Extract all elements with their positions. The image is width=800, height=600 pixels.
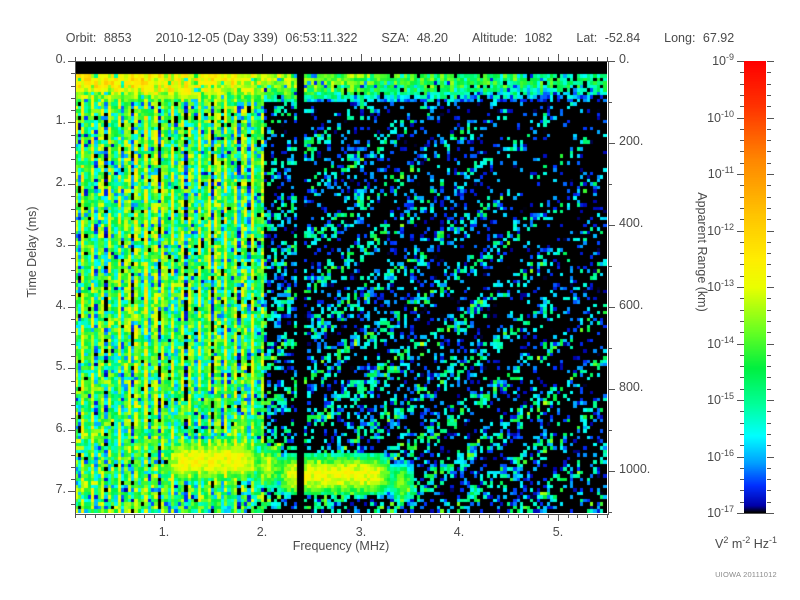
axis-tick <box>538 57 539 61</box>
colorbar-tick-label: 10-10 <box>682 109 734 125</box>
axis-tick <box>68 184 75 185</box>
axis-tick <box>767 332 771 333</box>
axis-tick <box>193 514 194 518</box>
x-axis-title: Frequency (MHz) <box>241 539 441 553</box>
axis-tick <box>459 514 460 521</box>
axis-tick <box>608 266 612 267</box>
x-tick-label: 1. <box>144 525 184 539</box>
axis-tick <box>469 514 470 518</box>
axis-tick <box>767 84 771 85</box>
axis-tick <box>737 174 744 175</box>
axis-tick <box>508 514 509 518</box>
axis-tick <box>203 514 204 518</box>
axis-tick <box>767 411 771 412</box>
y-tick-label-left: 7. <box>30 482 66 496</box>
axis-tick <box>767 253 771 254</box>
axis-tick <box>390 57 391 61</box>
colorbar-gradient <box>744 61 766 513</box>
axis-tick <box>410 57 411 61</box>
sza-label: SZA: <box>381 31 409 45</box>
axis-tick <box>71 381 75 382</box>
axis-tick <box>430 57 431 61</box>
axis-tick <box>95 57 96 61</box>
axis-tick <box>154 514 155 518</box>
axis-tick <box>183 57 184 61</box>
header-info-bar: Orbit: 8853 2010-12-05 (Day 339) 06:53:1… <box>0 31 800 45</box>
axis-tick <box>183 514 184 518</box>
axis-tick <box>577 57 578 61</box>
observation-time: 06:53:11.322 <box>285 31 357 45</box>
axis-tick <box>767 264 771 265</box>
sza-value: 48.20 <box>417 31 448 45</box>
axis-tick <box>144 57 145 61</box>
axis-tick <box>548 57 549 61</box>
axis-tick <box>390 514 391 518</box>
y-tick-label-right: 800. <box>619 380 669 394</box>
axis-tick <box>361 514 362 521</box>
axis-tick <box>380 57 381 61</box>
axis-tick <box>737 231 744 232</box>
axis-tick <box>174 57 175 61</box>
axis-tick <box>767 140 771 141</box>
axis-tick <box>767 434 771 435</box>
axis-tick <box>282 514 283 518</box>
axis-tick <box>341 514 342 518</box>
y-tick-label-left: 5. <box>30 359 66 373</box>
y-tick-label-right: 0. <box>619 52 669 66</box>
axis-tick <box>71 135 75 136</box>
axis-tick <box>71 258 75 259</box>
axis-tick <box>737 287 744 288</box>
axis-tick <box>767 321 771 322</box>
y-tick-label-left: 6. <box>30 421 66 435</box>
axis-tick <box>767 298 771 299</box>
axis-tick <box>213 514 214 518</box>
axis-tick <box>321 57 322 61</box>
spectrogram-image <box>75 61 607 513</box>
axis-tick <box>114 57 115 61</box>
axis-tick <box>767 118 774 119</box>
axis-tick <box>380 514 381 518</box>
axis-tick <box>400 57 401 61</box>
axis-tick <box>430 514 431 518</box>
longitude-value: 67.92 <box>703 31 734 45</box>
orbit-value: 8853 <box>104 31 132 45</box>
axis-tick <box>538 514 539 518</box>
y-tick-label-left: 0. <box>30 52 66 66</box>
colorbar-tick-label: 10-14 <box>682 335 734 351</box>
axis-tick <box>71 233 75 234</box>
axis-tick <box>528 514 529 518</box>
axis-tick <box>608 225 615 226</box>
axis-tick <box>262 514 263 521</box>
axis-tick <box>597 514 598 518</box>
y-axis-title-right: Apparent Range (km) <box>695 167 709 337</box>
axis-tick <box>587 57 588 61</box>
axis-tick <box>528 57 529 61</box>
axis-tick <box>469 57 470 61</box>
axis-tick <box>71 405 75 406</box>
y-tick-label-right: 600. <box>619 298 669 312</box>
axis-tick <box>341 57 342 61</box>
axis-tick <box>272 57 273 61</box>
altitude-label: Altitude: <box>472 31 517 45</box>
axis-tick <box>252 57 253 61</box>
axis-tick <box>767 219 771 220</box>
axis-tick <box>233 57 234 61</box>
axis-tick <box>767 242 771 243</box>
axis-tick <box>767 185 771 186</box>
axis-tick <box>71 221 75 222</box>
colorbar-unit-label: V2 m-2 Hz-1 <box>692 535 800 551</box>
axis-tick <box>371 57 372 61</box>
axis-tick <box>558 514 559 521</box>
axis-tick <box>154 57 155 61</box>
axis-tick <box>489 57 490 61</box>
axis-tick <box>262 54 263 61</box>
axis-tick <box>68 368 75 369</box>
axis-tick <box>767 457 774 458</box>
axis-tick <box>608 389 615 390</box>
axis-tick <box>95 514 96 518</box>
axis-tick <box>608 430 612 431</box>
axis-tick <box>71 147 75 148</box>
axis-tick <box>71 442 75 443</box>
axis-tick <box>608 348 612 349</box>
axis-tick <box>607 57 608 61</box>
colorbar-baseline <box>737 513 773 514</box>
axis-tick <box>292 57 293 61</box>
axis-tick <box>223 514 224 518</box>
axis-tick <box>71 332 75 333</box>
axis-tick <box>608 512 612 513</box>
axis-tick <box>440 57 441 61</box>
axis-tick <box>331 57 332 61</box>
axis-tick <box>71 282 75 283</box>
axis-tick <box>71 479 75 480</box>
observation-date: 2010-12-05 (Day 339) <box>156 31 278 45</box>
axis-tick <box>85 514 86 518</box>
latitude-value: -52.84 <box>605 31 640 45</box>
axis-tick <box>71 418 75 419</box>
axis-tick <box>134 57 135 61</box>
axis-tick <box>568 57 569 61</box>
axis-tick <box>252 514 253 518</box>
axis-tick <box>144 514 145 518</box>
axis-tick <box>607 514 608 518</box>
axis-tick <box>400 514 401 518</box>
axis-tick <box>71 344 75 345</box>
axis-tick <box>767 344 774 345</box>
axis-tick <box>767 355 771 356</box>
axis-tick <box>105 57 106 61</box>
axis-tick <box>272 514 273 518</box>
axis-tick <box>124 514 125 518</box>
axis-tick <box>499 514 500 518</box>
altitude-value: 1082 <box>525 31 553 45</box>
axis-tick <box>302 514 303 518</box>
axis-tick <box>767 276 771 277</box>
axis-tick <box>331 514 332 518</box>
axis-tick <box>71 270 75 271</box>
axis-tick <box>68 122 75 123</box>
axis-tick <box>71 504 75 505</box>
axis-tick <box>233 514 234 518</box>
axis-tick <box>302 57 303 61</box>
axis-tick <box>420 57 421 61</box>
axis-tick <box>71 73 75 74</box>
axis-tick <box>767 468 771 469</box>
axis-tick <box>71 110 75 111</box>
axis-tick <box>242 57 243 61</box>
axis-tick <box>518 57 519 61</box>
axis-tick <box>737 61 744 62</box>
axis-tick <box>410 514 411 518</box>
axis-tick <box>282 57 283 61</box>
x-tick-label: 3. <box>341 525 381 539</box>
axis-tick <box>361 54 362 61</box>
axis-tick <box>608 143 615 144</box>
orbit-label: Orbit: <box>66 31 97 45</box>
axis-tick <box>71 467 75 468</box>
axis-tick <box>71 172 75 173</box>
axis-tick <box>71 98 75 99</box>
y-tick-label-right: 400. <box>619 216 669 230</box>
axis-tick <box>767 231 774 232</box>
axis-tick <box>489 514 490 518</box>
axis-tick <box>767 163 771 164</box>
axis-tick <box>449 57 450 61</box>
axis-tick <box>193 57 194 61</box>
axis-tick <box>71 209 75 210</box>
axis-tick <box>213 57 214 61</box>
axis-tick <box>85 57 86 61</box>
latitude-label: Lat: <box>576 31 597 45</box>
axis-tick <box>767 389 771 390</box>
axis-tick <box>71 159 75 160</box>
axis-tick <box>68 491 75 492</box>
x-tick-label: 4. <box>439 525 479 539</box>
axis-tick <box>203 57 204 61</box>
axis-tick <box>75 514 76 518</box>
axis-tick <box>737 457 744 458</box>
axis-tick <box>767 490 771 491</box>
axis-tick <box>499 57 500 61</box>
x-tick-label: 5. <box>538 525 578 539</box>
axis-tick <box>105 514 106 518</box>
axis-tick <box>75 57 76 61</box>
axis-tick <box>767 151 771 152</box>
axis-tick <box>134 514 135 518</box>
axis-tick <box>548 514 549 518</box>
credit-label: UIOWA 20111012 <box>692 570 800 579</box>
axis-tick <box>68 430 75 431</box>
axis-tick <box>767 72 771 73</box>
axis-tick <box>479 57 480 61</box>
axis-tick <box>351 57 352 61</box>
axis-tick <box>68 61 75 62</box>
axis-tick <box>371 514 372 518</box>
axis-tick <box>767 366 771 367</box>
axis-tick <box>242 514 243 518</box>
axis-tick <box>767 61 774 62</box>
axis-tick <box>164 514 165 521</box>
axis-tick <box>558 54 559 61</box>
axis-tick <box>767 310 771 311</box>
axis-tick <box>737 344 744 345</box>
ionogram-plot-area <box>75 61 607 513</box>
y-tick-label-right: 1000. <box>619 462 669 476</box>
axis-tick <box>608 307 615 308</box>
axis-tick <box>518 514 519 518</box>
axis-tick <box>114 514 115 518</box>
y-tick-label-left: 1. <box>30 113 66 127</box>
axis-tick <box>459 54 460 61</box>
colorbar-tick-label: 10-15 <box>682 391 734 407</box>
x-tick-label: 2. <box>242 525 282 539</box>
axis-tick <box>71 319 75 320</box>
axis-tick <box>420 514 421 518</box>
axis-tick <box>577 514 578 518</box>
axis-tick <box>223 57 224 61</box>
axis-tick <box>68 307 75 308</box>
axis-tick <box>608 102 612 103</box>
axis-tick <box>71 455 75 456</box>
colorbar-tick-label: 10-9 <box>682 52 734 68</box>
colorbar-tick-label: 10-16 <box>682 448 734 464</box>
axis-tick <box>71 356 75 357</box>
y-tick-label-right: 200. <box>619 134 669 148</box>
axis-tick <box>71 86 75 87</box>
colorbar <box>744 61 766 513</box>
axis-tick <box>71 393 75 394</box>
axis-tick <box>292 514 293 518</box>
axis-tick <box>71 295 75 296</box>
axis-tick <box>174 514 175 518</box>
axis-tick <box>767 502 771 503</box>
axis-tick <box>767 400 774 401</box>
y-axis-title-left: Time Delay (ms) <box>25 182 39 322</box>
colorbar-tick-label: 10-17 <box>682 504 734 520</box>
axis-tick <box>767 423 771 424</box>
longitude-label: Long: <box>664 31 695 45</box>
axis-tick <box>449 514 450 518</box>
axis-tick <box>767 95 771 96</box>
axis-tick <box>311 514 312 518</box>
axis-tick <box>440 514 441 518</box>
axis-tick <box>608 184 612 185</box>
axis-tick <box>737 118 744 119</box>
axis-tick <box>479 514 480 518</box>
axis-tick <box>767 197 771 198</box>
axis-tick <box>767 287 774 288</box>
axis-tick <box>767 106 771 107</box>
axis-tick <box>568 514 569 518</box>
axis-tick <box>767 208 771 209</box>
axis-tick <box>587 514 588 518</box>
axis-tick <box>68 245 75 246</box>
axis-tick <box>608 471 615 472</box>
axis-tick <box>597 57 598 61</box>
axis-tick <box>164 54 165 61</box>
axis-tick <box>608 61 615 62</box>
axis-tick <box>767 129 771 130</box>
axis-tick <box>311 57 312 61</box>
axis-tick <box>124 57 125 61</box>
axis-tick <box>321 514 322 518</box>
axis-tick <box>767 174 774 175</box>
axis-tick <box>767 377 771 378</box>
axis-tick <box>737 400 744 401</box>
axis-tick <box>767 479 771 480</box>
axis-tick <box>767 445 771 446</box>
axis-tick <box>71 196 75 197</box>
axis-tick <box>351 514 352 518</box>
axis-tick <box>508 57 509 61</box>
